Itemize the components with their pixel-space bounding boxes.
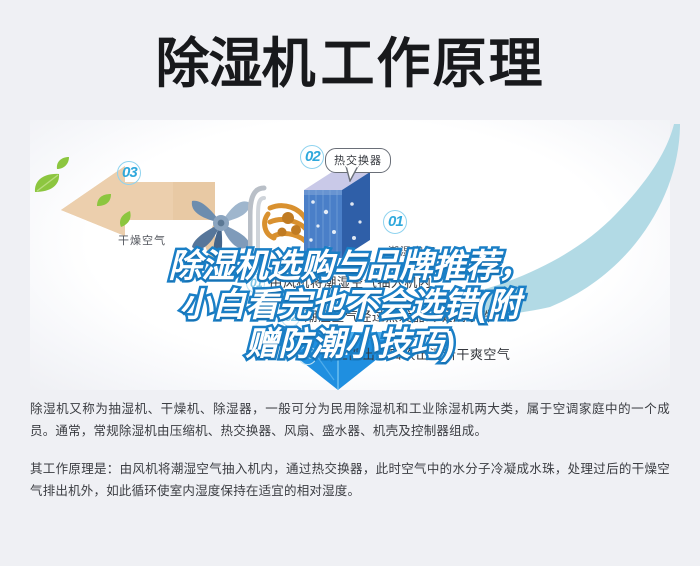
diagram-badge-02: 02 xyxy=(305,148,320,165)
caption-text: 潮湿空气经过蒸发器冷凝成水珠 xyxy=(304,309,493,324)
leaf-icon xyxy=(118,210,132,233)
diagram-badge-01: 01 xyxy=(388,213,403,230)
article-body: 除湿机又称为抽湿机、干燥机、除湿器，一般可分为民用除湿机和工业除湿机两大类，属于… xyxy=(0,398,700,518)
dry-air-label: 干燥空气 xyxy=(118,232,166,248)
infographic-hero: 水箱 03 02 01 热交换器 干燥空气 潮湿空气 01由风机将潮湿空气抽入机… xyxy=(0,0,700,400)
leaf-icon xyxy=(33,172,61,199)
diagram-badge-03: 03 xyxy=(122,164,137,181)
article-paragraph-2: 其工作原理是：由风机将潮湿空气抽入机内，通过热交换器，此时空气中的水分子冷凝成水… xyxy=(30,458,670,502)
caption-step-01: 01由风机将潮湿空气抽入机内 xyxy=(250,272,431,291)
caption-number: 03 xyxy=(302,348,314,362)
page-title: 除湿机工作原理 xyxy=(0,34,700,94)
page-title-part-a: 除湿机 xyxy=(156,34,315,94)
page-title-part-b: 工作原理 xyxy=(321,34,545,94)
leaf-icon xyxy=(96,193,112,212)
callout-tail-icon xyxy=(345,166,359,182)
caption-text: 由风机将潮湿空气抽入机内 xyxy=(269,275,431,290)
moist-air-label: 潮湿空气 xyxy=(388,243,436,259)
article-paragraph-1: 除湿机又称为抽湿机、干燥机、除湿器，一般可分为民用除湿机和工业除湿机两大类，属于… xyxy=(30,398,670,442)
caption-number: 01 xyxy=(250,276,262,290)
caption-step-03: 03从上部出风口吹出清新干爽空气 xyxy=(302,344,510,363)
caption-text: 从上部出风口吹出清新干爽空气 xyxy=(321,347,510,362)
caption-step-02: 02潮湿空气经过蒸发器冷凝成水珠 xyxy=(285,306,493,325)
caption-number: 02 xyxy=(285,310,297,324)
heat-exchanger-icon xyxy=(296,168,386,268)
